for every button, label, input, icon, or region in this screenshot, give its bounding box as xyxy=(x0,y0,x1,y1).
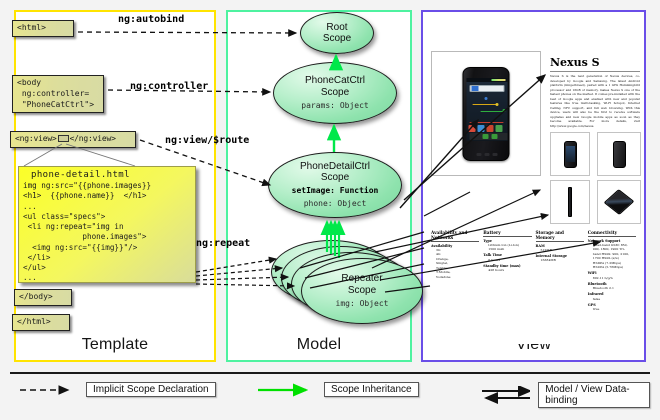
legend-label-data-binding: Model / View Data-binding xyxy=(538,382,650,408)
tag-html-close[interactable]: </html> xyxy=(12,314,70,331)
title-divider xyxy=(550,71,640,72)
app-icon-1 xyxy=(469,125,476,132)
scope-phonedetailctrl-name: PhoneDetailCtrlScope xyxy=(300,161,370,183)
wallpaper-line-3 xyxy=(470,122,504,124)
phone-search-widget xyxy=(470,85,505,92)
panel-template-label: Template xyxy=(16,336,214,354)
scope-root[interactable]: RootScope xyxy=(300,12,374,54)
app-icon-4 xyxy=(496,125,503,132)
spec-value: 512MB xyxy=(536,248,584,252)
template-sticky-note[interactable]: phone-detail.html img ng:src="{{phone.im… xyxy=(18,166,196,283)
scope-phonedetailctrl-prop-phone: phone: Object xyxy=(304,199,367,209)
dock-icon-apps xyxy=(492,134,498,139)
wallpaper-dot-1 xyxy=(485,97,488,100)
diagram-canvas: Template Model View xyxy=(0,0,660,420)
spec-header-connectivity: Connectivity xyxy=(588,230,636,237)
legend-divider xyxy=(10,372,650,374)
key-search-icon xyxy=(493,153,498,156)
scope-repeater-prop-img: img: Object xyxy=(336,299,389,309)
legend-solid-arrow-icon xyxy=(256,383,316,397)
phone-back-thumb-icon xyxy=(613,141,626,168)
scope-phonedetailctrl-prop-setimage: setImage: Function xyxy=(292,186,379,196)
wallpaper-dot-3 xyxy=(503,109,506,112)
spec-table: Availability and Networks Availability 3… xyxy=(431,230,636,311)
legend-dashed-arrow-icon xyxy=(18,383,78,397)
phone-hero-image-frame[interactable] xyxy=(431,51,541,176)
legend-double-arrow-icon xyxy=(480,386,530,404)
note-title: phone-detail.html xyxy=(19,167,195,181)
phone-dock xyxy=(470,133,508,140)
spec-value: 1500 mAh xyxy=(483,247,531,251)
spec-value: 6 hours xyxy=(483,258,531,262)
legend-item-data-binding: Model / View Data-binding xyxy=(480,382,650,408)
tag-body-close[interactable]: </body> xyxy=(14,289,72,306)
dock-icon-phone xyxy=(483,134,489,139)
ngview-slot-icon xyxy=(58,135,69,142)
scope-phonecatctrl[interactable]: PhoneCatCtrlScope params: Object xyxy=(273,62,397,124)
scope-repeater-name: RepeaterScope xyxy=(341,273,382,295)
spec-value: true xyxy=(588,307,636,311)
wallpaper-line-1 xyxy=(473,104,497,106)
spec-header-battery: Battery xyxy=(483,230,531,237)
tag-ngview[interactable]: <ng:view></ng:view> xyxy=(10,131,136,148)
phone-soft-keys xyxy=(469,153,506,157)
google-logo-icon xyxy=(472,86,479,91)
panel-model-label: Model xyxy=(228,336,410,354)
edge-label-repeat: ng:repeat xyxy=(196,238,250,249)
tag-ngview-open: <ng:view> xyxy=(15,134,57,143)
scope-root-name: RootScope xyxy=(323,22,351,44)
scope-phonecatctrl-prop-params: params: Object xyxy=(301,101,368,111)
scope-phonedetailctrl[interactable]: PhoneDetailCtrlScope setImage: Function … xyxy=(268,152,402,218)
phone-status-bar xyxy=(467,78,508,82)
spec-value: HSUPA (5.76Mbps) xyxy=(588,265,636,269)
edge-label-autobind: ng:autobind xyxy=(118,14,184,25)
note-code: img ng:src="{{phone.images}} <h1> {{phon… xyxy=(19,181,195,284)
spec-value: Vodafone xyxy=(431,275,479,279)
spec-header-availability: Availability and Networks xyxy=(431,230,479,242)
spec-value: false xyxy=(588,297,636,301)
wallpaper-dot-2 xyxy=(496,103,499,106)
wallpaper-line-2 xyxy=(481,111,505,113)
legend-label-implicit-scope: Implicit Scope Declaration xyxy=(86,382,216,397)
legend: Implicit Scope Declaration Scope Inherit… xyxy=(10,382,650,408)
tag-ngview-close: </ng:view> xyxy=(70,134,116,143)
scope-repeater[interactable]: RepeaterScope img: Object xyxy=(301,258,423,324)
spec-columns: Availability and Networks Availability 3… xyxy=(431,230,636,311)
phone-app-row xyxy=(469,125,506,132)
app-icon-3 xyxy=(487,125,494,132)
tag-html-open[interactable]: <html> xyxy=(12,20,74,37)
scope-phonecatctrl-name: PhoneCatCtrlScope xyxy=(305,75,365,97)
edge-label-ngview-route: ng:view/$route xyxy=(165,135,249,146)
product-title: Nexus S xyxy=(550,56,600,69)
spec-column-connectivity: Connectivity Network Support Quad-band G… xyxy=(588,230,636,311)
thumbnail-2[interactable] xyxy=(597,132,641,176)
phone-edge-thumb-icon xyxy=(568,187,572,217)
edge-label-controller: ng:controller xyxy=(130,81,208,92)
spec-column-battery: Battery Type Lithium Ion (Li-Ion) 1500 m… xyxy=(483,230,531,311)
tag-body-open[interactable]: <body ng:controller= "PhoneCatCtrl"> xyxy=(12,75,104,113)
thumbnail-1[interactable] xyxy=(550,132,590,176)
spec-value: Bluetooth 2.1 xyxy=(588,286,636,290)
spec-value: 428 hours xyxy=(483,268,531,272)
phone-hero-image xyxy=(463,67,510,161)
legend-item-scope-inheritance: Scope Inheritance xyxy=(256,382,419,397)
legend-label-scope-inheritance: Scope Inheritance xyxy=(324,382,419,397)
spec-column-availability: Availability and Networks Availability 3… xyxy=(431,230,479,311)
app-icon-2 xyxy=(478,125,485,132)
key-menu-icon xyxy=(485,153,490,156)
phone-angle-thumb-icon xyxy=(604,189,635,215)
legend-item-implicit-scope: Implicit Scope Declaration xyxy=(18,382,216,397)
spec-column-storage: Storage and Memory RAM 512MB Internal St… xyxy=(536,230,584,311)
view-rendered-page: Nexus S Nexus S is the next generation o… xyxy=(425,14,642,344)
thumbnail-4[interactable] xyxy=(597,180,641,224)
product-description: Nexus S is the next generation of Nexus … xyxy=(550,74,640,128)
spec-header-storage: Storage and Memory xyxy=(536,230,584,242)
phone-front-thumb-icon xyxy=(564,141,577,168)
spec-value: 16384MB xyxy=(536,258,584,262)
spec-value: 802.11 b/g/n xyxy=(588,276,636,280)
key-back-icon xyxy=(477,153,482,156)
thumbnail-3[interactable] xyxy=(550,180,590,224)
phone-screen xyxy=(467,78,508,141)
